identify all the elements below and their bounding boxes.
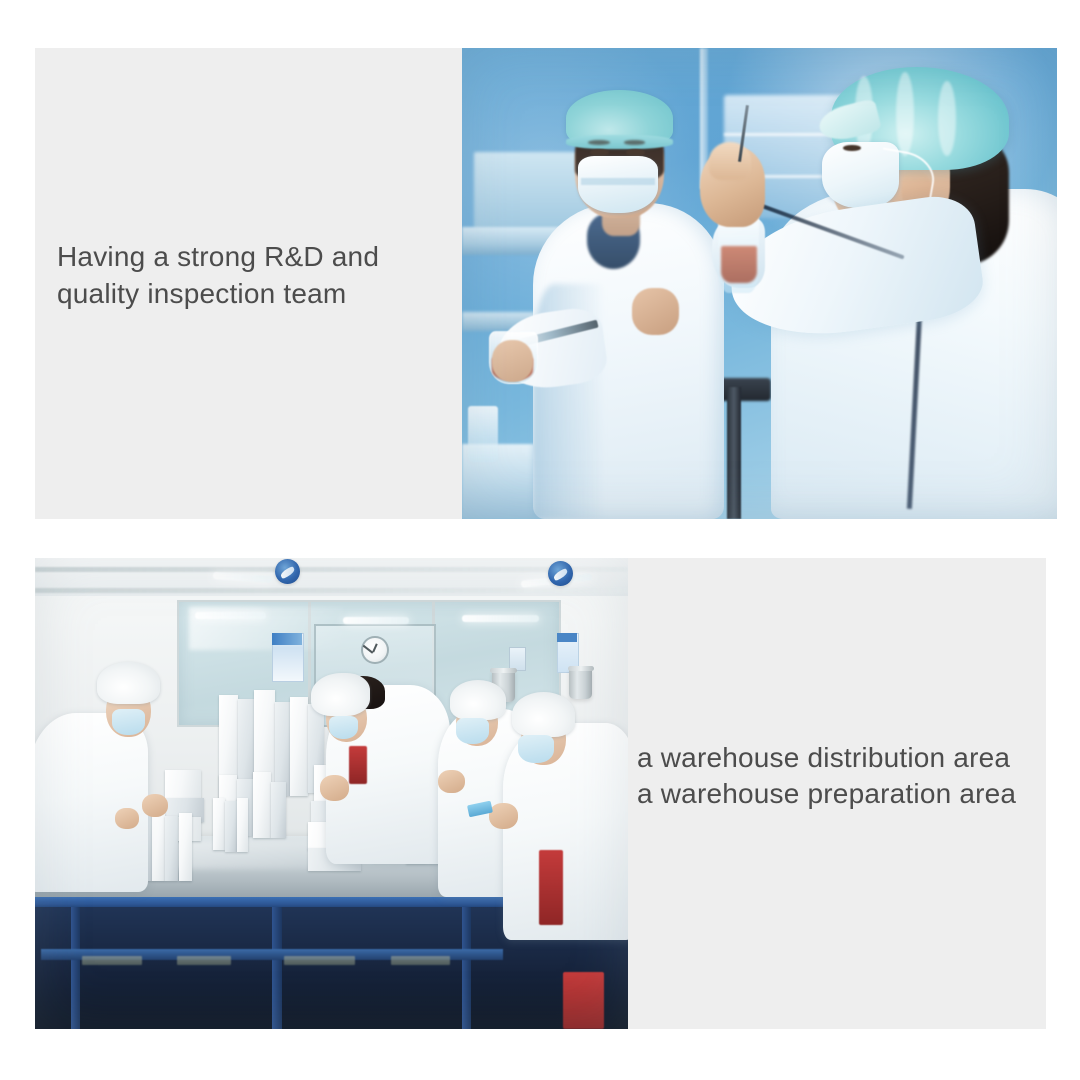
table-leg — [462, 907, 471, 1029]
carton-stack — [290, 697, 308, 796]
stainless-container — [569, 669, 593, 700]
packing-worker-4-hand — [489, 803, 519, 829]
lab-worker-left-brow — [624, 140, 645, 145]
lab-worker-right-fingers — [709, 142, 751, 180]
packing-worker-1-coat — [35, 713, 148, 892]
carton-upright — [152, 812, 165, 880]
lab-scene — [462, 48, 1057, 519]
carton-upright — [179, 813, 192, 880]
lab-worker-right-cap-fold — [938, 81, 956, 156]
lab-worker-left-cap-band — [566, 135, 673, 149]
packing-worker-3-cap — [450, 680, 506, 720]
lab-inspection-photo — [462, 48, 1057, 519]
block-warehouse-areas: a warehouse distribution area a warehous… — [35, 558, 1046, 1029]
block-rnd-quality: Having a strong R&D and quality inspecti… — [35, 48, 1057, 519]
carton-upright — [225, 801, 237, 853]
packing-scene — [35, 558, 628, 1029]
lab-worker-left-brow — [588, 140, 609, 145]
packing-worker-1-mask — [112, 709, 145, 735]
packing-worker-4-red-garment — [563, 972, 605, 1029]
lab-worker-left-hand — [492, 340, 534, 382]
carton-upright — [213, 798, 225, 850]
packing-line-photo — [35, 558, 628, 1029]
packing-worker-1-cap — [97, 662, 159, 704]
packing-worker-1-hand — [115, 808, 139, 829]
packing-worker-2-lanyard — [349, 746, 367, 784]
ceiling-light — [195, 612, 266, 619]
packing-worker-2-hand — [320, 775, 350, 801]
caption-warehouse-areas: a warehouse distribution area a warehous… — [637, 740, 1047, 812]
wall-label — [509, 647, 525, 670]
stainless-container-lid — [568, 666, 594, 671]
ceiling-beam — [35, 588, 628, 593]
carton-upright — [165, 816, 178, 881]
packing-worker-4-mask — [518, 735, 554, 763]
lab-worker-left-hand — [632, 288, 680, 335]
packing-worker-4-cap — [512, 692, 574, 737]
wall-notice-board-header — [272, 633, 302, 644]
carton-upright — [237, 798, 249, 852]
packing-worker-3-mask — [456, 718, 489, 744]
ceiling-beam — [35, 567, 628, 572]
stainless-container-lid — [490, 668, 516, 673]
packing-worker-2-cap — [311, 673, 370, 715]
ceiling-light — [343, 617, 408, 624]
caption-rnd-quality: Having a strong R&D and quality inspecti… — [57, 238, 457, 312]
carton — [253, 772, 271, 838]
packing-worker-2-mask — [329, 716, 359, 740]
ceiling-light — [462, 615, 539, 622]
lab-test-tube-liquid — [721, 246, 757, 284]
packing-worker-4-red-garment — [539, 850, 563, 925]
lab-worker-left-mask-fold — [581, 178, 655, 186]
carton — [271, 782, 286, 839]
lab-beaker — [468, 406, 498, 463]
table-leg — [272, 907, 281, 1029]
stored-carton — [177, 956, 230, 965]
stored-carton — [284, 956, 355, 965]
table-leg — [71, 907, 80, 1029]
lab-post — [727, 387, 741, 519]
stored-carton — [391, 956, 450, 965]
stored-carton — [82, 956, 141, 965]
lab-worker-right-eye — [843, 145, 861, 152]
packing-worker-1-hand — [142, 794, 169, 818]
wall-notice-board-header — [557, 633, 577, 641]
page-root: Having a strong R&D and quality inspecti… — [0, 0, 1080, 1080]
packing-worker-3-hand — [438, 770, 465, 794]
